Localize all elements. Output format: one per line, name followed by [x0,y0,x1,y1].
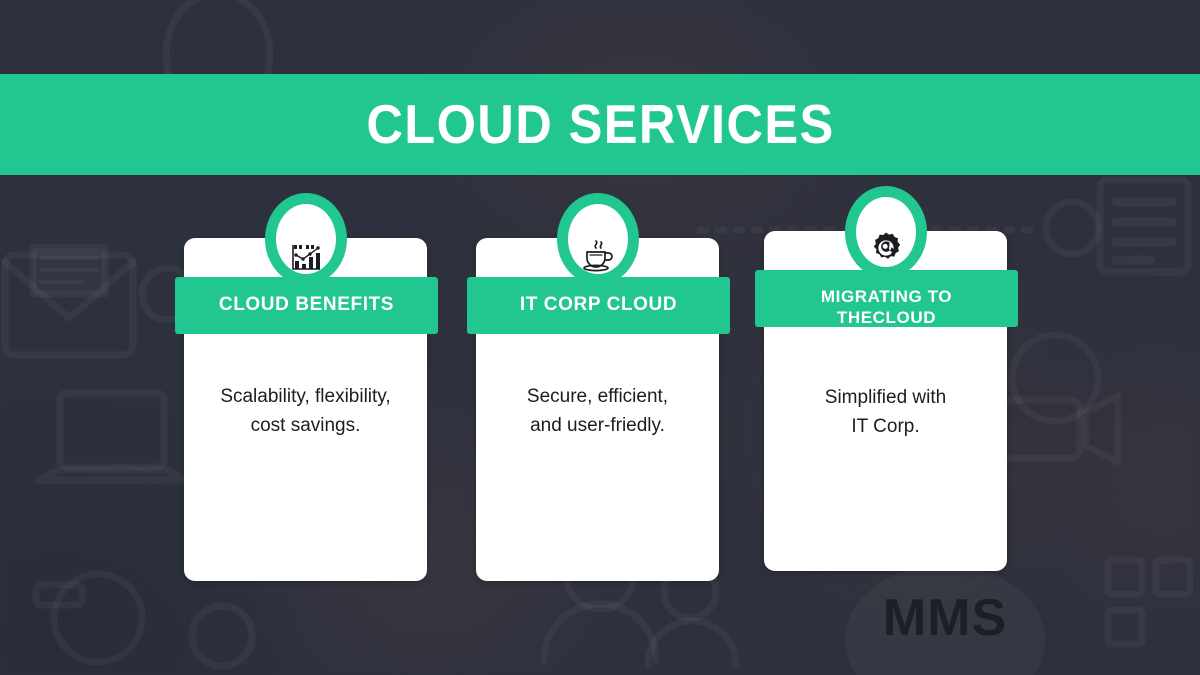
node-circle-icon [1046,202,1098,254]
bar-chart-icon [276,204,336,274]
card-it-corp-cloud[interactable]: IT CORP CLOUD Secure, efficient, and use… [467,193,730,588]
page-title: CLOUD SERVICES [366,97,834,152]
card-title: CLOUD BENEFITS [219,294,394,316]
laptop-icon [38,393,186,480]
grid-squares-icon [1108,560,1190,644]
coffee-cup-icon [568,204,628,274]
icon-badge [845,186,927,278]
camera-icon [36,574,142,662]
card-title: MIGRATING TO THECLOUD [821,287,952,327]
envelope-icon [5,248,133,355]
watermark-text: MMS [845,588,1045,648]
icon-badge [557,193,639,285]
card-title-banner: IT CORP CLOUD [467,277,730,334]
card-title-banner: MIGRATING TO THECLOUD [755,270,1018,327]
gear-wrench-icon [856,197,916,267]
title-banner: CLOUD SERVICES [0,74,1200,175]
slide-canvas: MMS CLOUD SERVICES [0,0,1200,675]
card-description: Scalability, flexibility, cost savings. [184,383,427,441]
document-icon [1100,180,1188,272]
card-migrating-to-the-cloud[interactable]: MIGRATING TO THECLOUD Simplified with IT… [755,186,1018,581]
card-cloud-benefits[interactable]: CLOUD BENEFITS Scalability, flexibility,… [175,193,438,588]
card-title-banner: CLOUD BENEFITS [175,277,438,334]
card-description: Simplified with IT Corp. [764,384,1007,442]
card-description: Secure, efficient, and user-friedly. [476,383,719,441]
aperture-icon [192,606,252,666]
icon-badge [265,193,347,285]
card-title: IT CORP CLOUD [520,294,677,316]
